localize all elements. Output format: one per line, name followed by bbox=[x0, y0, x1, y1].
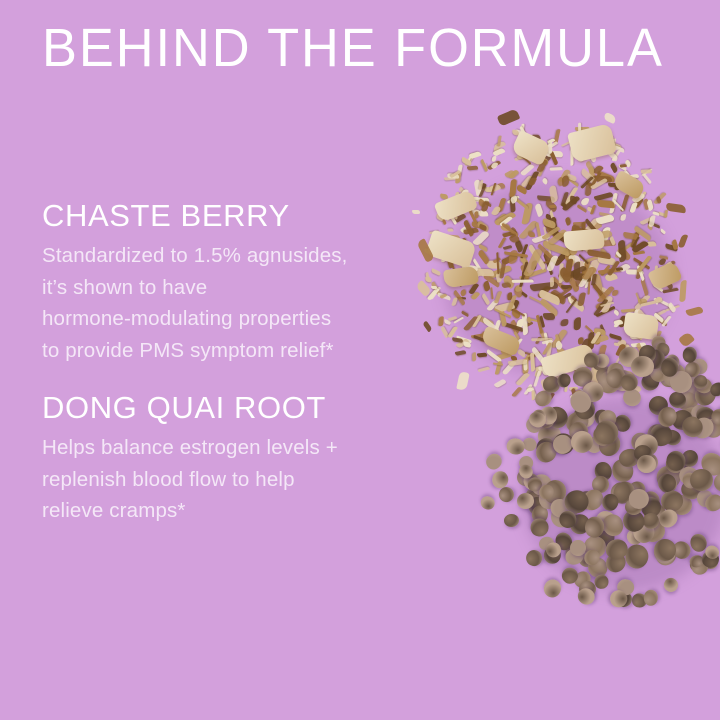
chaste-berry bbox=[557, 509, 578, 531]
root-chip bbox=[572, 273, 592, 282]
root-chip-stray bbox=[540, 379, 551, 399]
root-chip bbox=[546, 341, 553, 357]
root-chip bbox=[646, 199, 654, 210]
root-chip bbox=[593, 164, 604, 175]
root-chip bbox=[480, 200, 489, 212]
root-chip bbox=[444, 177, 458, 181]
root-chip bbox=[629, 201, 637, 213]
root-chip bbox=[490, 287, 494, 299]
root-chip bbox=[589, 376, 595, 383]
root-chip bbox=[570, 147, 573, 165]
root-chip bbox=[544, 226, 559, 238]
root-chip bbox=[594, 192, 614, 202]
root-chip bbox=[594, 297, 609, 315]
root-chip bbox=[477, 353, 487, 358]
root-chip bbox=[589, 334, 608, 345]
root-chip bbox=[571, 224, 589, 243]
root-chip bbox=[513, 330, 520, 340]
root-chip bbox=[658, 315, 668, 324]
description-line: replenish blood flow to help bbox=[42, 464, 372, 496]
root-chip bbox=[507, 305, 526, 317]
root-chip bbox=[543, 198, 558, 213]
root-chip bbox=[618, 240, 626, 262]
root-chip bbox=[537, 195, 556, 201]
root-chip bbox=[641, 191, 648, 199]
chaste-berry bbox=[527, 496, 545, 514]
chaste-berry bbox=[683, 377, 702, 398]
chaste-berry bbox=[582, 534, 608, 559]
root-chip bbox=[539, 391, 543, 404]
root-chip bbox=[648, 220, 661, 228]
root-chip-large bbox=[480, 326, 522, 357]
root-chip bbox=[496, 212, 508, 223]
chaste-berry bbox=[530, 407, 550, 427]
root-chip bbox=[640, 278, 649, 296]
chaste-berry bbox=[641, 346, 668, 373]
root-chip bbox=[543, 220, 555, 232]
root-chip bbox=[463, 342, 472, 349]
root-chip bbox=[577, 204, 588, 212]
root-chip bbox=[494, 379, 507, 389]
root-chip bbox=[535, 364, 547, 371]
root-chip bbox=[621, 169, 631, 179]
root-chip bbox=[620, 163, 627, 167]
chaste-berry bbox=[666, 389, 689, 412]
chaste-berry bbox=[688, 532, 709, 554]
root-chip bbox=[660, 229, 667, 235]
ingredient-heading: CHASTE BERRY bbox=[42, 198, 372, 234]
root-chip bbox=[424, 277, 431, 283]
root-chip bbox=[561, 284, 572, 288]
root-chip bbox=[541, 154, 552, 165]
root-chip bbox=[425, 272, 430, 279]
root-chip bbox=[427, 287, 440, 301]
root-chip bbox=[573, 317, 580, 330]
root-chip bbox=[457, 240, 466, 247]
chaste-berry bbox=[650, 335, 667, 353]
root-chip bbox=[543, 254, 553, 276]
root-chip bbox=[494, 308, 512, 318]
root-chip bbox=[489, 184, 501, 193]
root-chip bbox=[543, 357, 563, 368]
root-chip bbox=[517, 137, 525, 148]
root-chip bbox=[594, 329, 606, 336]
chaste-berry bbox=[553, 530, 575, 553]
root-chip bbox=[573, 366, 582, 372]
chaste-berry bbox=[682, 359, 703, 380]
root-chip bbox=[612, 149, 621, 161]
root-chip bbox=[543, 227, 552, 256]
root-chip bbox=[530, 353, 535, 372]
root-chip bbox=[620, 214, 626, 222]
root-chip bbox=[471, 221, 484, 229]
root-chip bbox=[559, 263, 564, 284]
chaste-berry bbox=[594, 420, 619, 446]
root-chip bbox=[440, 326, 450, 338]
root-chip bbox=[530, 386, 537, 398]
chaste-berry bbox=[595, 575, 609, 589]
root-chip-stray bbox=[603, 112, 617, 124]
root-chip bbox=[460, 241, 470, 249]
chaste-berry bbox=[571, 568, 593, 590]
root-chip bbox=[517, 155, 525, 160]
root-chip-large bbox=[612, 170, 647, 201]
root-chip bbox=[544, 213, 557, 223]
root-chip bbox=[599, 324, 606, 333]
root-chip bbox=[532, 233, 551, 244]
chaste-berry bbox=[707, 380, 720, 399]
root-chip bbox=[574, 138, 582, 145]
root-chip bbox=[632, 320, 638, 327]
root-chip bbox=[477, 244, 488, 252]
root-chip bbox=[549, 205, 556, 209]
root-chip bbox=[616, 342, 627, 356]
chaste-berry bbox=[663, 451, 687, 475]
root-chip bbox=[541, 368, 549, 375]
chaste-berry bbox=[602, 364, 629, 391]
root-chip bbox=[460, 225, 470, 235]
root-chip bbox=[467, 206, 478, 225]
root-chip-stray bbox=[456, 371, 470, 391]
root-chip bbox=[509, 320, 520, 335]
root-chip bbox=[553, 341, 563, 351]
chaste-berry bbox=[530, 473, 553, 496]
chaste-berry bbox=[569, 514, 591, 535]
chaste-berry bbox=[530, 504, 549, 524]
root-chip bbox=[499, 215, 513, 227]
chaste-berry bbox=[665, 365, 688, 387]
root-chip bbox=[580, 167, 599, 185]
root-chip bbox=[491, 183, 497, 196]
chaste-berry bbox=[641, 511, 660, 530]
root-chip bbox=[632, 250, 644, 255]
root-chip bbox=[585, 325, 594, 333]
root-chip bbox=[478, 366, 490, 372]
root-chip bbox=[642, 317, 649, 321]
root-chip bbox=[450, 261, 457, 277]
chaste-berry bbox=[680, 407, 704, 431]
root-chip bbox=[586, 183, 593, 197]
root-chip bbox=[451, 337, 463, 343]
root-chip bbox=[631, 343, 646, 348]
chaste-berry bbox=[543, 375, 562, 393]
root-chip bbox=[468, 282, 479, 295]
root-chip bbox=[632, 178, 639, 185]
root-chip bbox=[509, 233, 520, 244]
chaste-berry bbox=[533, 438, 561, 466]
chaste-berry bbox=[536, 481, 556, 501]
root-chip bbox=[656, 330, 662, 337]
chaste-berry bbox=[559, 565, 581, 587]
chaste-berry bbox=[639, 495, 662, 518]
chaste-berry bbox=[596, 366, 617, 387]
root-chip bbox=[571, 141, 578, 152]
root-chip bbox=[481, 293, 490, 305]
chaste-berry bbox=[678, 413, 707, 442]
root-chip bbox=[455, 192, 461, 204]
chaste-berry bbox=[638, 344, 657, 364]
root-chip bbox=[539, 392, 546, 400]
root-chip bbox=[447, 174, 459, 179]
root-chip bbox=[570, 295, 577, 302]
root-chip bbox=[636, 342, 644, 355]
chaste-berry bbox=[694, 487, 716, 509]
root-chip bbox=[659, 258, 667, 266]
root-chip bbox=[614, 343, 630, 348]
root-chip bbox=[559, 169, 571, 184]
root-chip bbox=[590, 220, 603, 231]
root-chip-stray bbox=[666, 203, 687, 214]
root-chip bbox=[493, 148, 506, 157]
root-chip bbox=[493, 362, 503, 366]
chaste-berry bbox=[562, 487, 591, 515]
root-chip bbox=[626, 270, 644, 275]
root-chip bbox=[654, 192, 667, 205]
chaste-berry bbox=[623, 478, 649, 504]
root-chip bbox=[624, 160, 632, 168]
chaste-berry bbox=[539, 405, 558, 425]
root-chip bbox=[430, 286, 441, 300]
chaste-berry bbox=[656, 505, 682, 530]
root-chip bbox=[510, 234, 516, 239]
root-chip bbox=[524, 383, 533, 395]
chaste-berry bbox=[614, 589, 634, 609]
root-chip bbox=[462, 219, 474, 236]
root-chip bbox=[455, 171, 461, 183]
chaste-berry bbox=[595, 429, 624, 459]
root-chip bbox=[657, 261, 672, 273]
root-chip bbox=[580, 227, 592, 239]
root-chip bbox=[613, 145, 625, 153]
root-chip bbox=[519, 268, 547, 281]
root-chip bbox=[641, 170, 652, 174]
root-chip bbox=[510, 307, 522, 318]
root-chip bbox=[487, 261, 502, 269]
root-chip bbox=[636, 262, 643, 280]
root-chip bbox=[658, 299, 673, 309]
root-chip bbox=[564, 259, 573, 279]
root-chip bbox=[511, 356, 518, 362]
chaste-berry bbox=[535, 421, 564, 451]
chaste-berry bbox=[649, 423, 673, 447]
description-line: to provide PMS symptom relief* bbox=[42, 335, 372, 367]
root-chip bbox=[636, 265, 644, 280]
chaste-berry bbox=[591, 407, 612, 428]
chaste-berry bbox=[655, 464, 683, 491]
chaste-berry bbox=[636, 451, 660, 474]
chaste-berry bbox=[541, 577, 564, 600]
chaste-berry bbox=[682, 346, 697, 363]
chaste-berry bbox=[570, 540, 586, 556]
root-chip bbox=[566, 296, 585, 313]
chaste-berry bbox=[617, 446, 642, 469]
root-chip-stray bbox=[679, 280, 687, 302]
chaste-berry bbox=[647, 360, 671, 384]
root-chip bbox=[590, 331, 601, 345]
root-chip-stray bbox=[497, 108, 521, 126]
root-chip bbox=[461, 157, 473, 167]
root-chip bbox=[569, 386, 579, 390]
root-chip bbox=[531, 260, 537, 271]
root-chip bbox=[613, 319, 620, 328]
root-chip bbox=[537, 285, 551, 300]
root-chip bbox=[599, 239, 616, 247]
description-line: hormone-modulating properties bbox=[42, 303, 372, 335]
root-chip bbox=[604, 146, 619, 161]
root-chip bbox=[585, 181, 593, 188]
root-chip bbox=[578, 371, 588, 375]
root-chip bbox=[542, 338, 553, 344]
root-chip bbox=[519, 265, 529, 281]
root-chip bbox=[507, 294, 517, 312]
root-chip bbox=[447, 325, 458, 338]
chaste-berry bbox=[678, 477, 704, 502]
root-chip bbox=[654, 265, 657, 279]
root-chip bbox=[480, 158, 488, 171]
root-chip bbox=[522, 358, 528, 374]
chaste-berry bbox=[652, 541, 680, 569]
ingredient-block-chaste-berry: CHASTE BERRY Standardized to 1.5% agnusi… bbox=[42, 198, 372, 366]
root-chip bbox=[577, 259, 586, 270]
root-chip bbox=[588, 331, 595, 350]
root-chip bbox=[616, 368, 631, 377]
root-chip bbox=[528, 317, 541, 322]
root-chip bbox=[621, 308, 636, 312]
chaste-berry bbox=[609, 368, 635, 394]
root-chip bbox=[523, 360, 528, 371]
root-chip bbox=[491, 331, 501, 339]
description-line: Helps balance estrogen levels + bbox=[42, 432, 372, 464]
root-chip bbox=[563, 186, 579, 208]
chaste-berry bbox=[550, 431, 575, 456]
root-chip bbox=[548, 139, 552, 154]
root-chip bbox=[657, 318, 667, 326]
chaste-berry bbox=[594, 353, 610, 370]
chaste-berry bbox=[636, 454, 656, 472]
root-chip bbox=[561, 274, 572, 284]
root-chip bbox=[641, 300, 657, 306]
chaste-berry bbox=[539, 477, 570, 508]
chaste-berry bbox=[643, 502, 667, 526]
root-chip bbox=[476, 221, 489, 233]
root-chip bbox=[472, 272, 482, 280]
chaste-berry bbox=[523, 547, 544, 568]
chaste-berry bbox=[630, 355, 655, 378]
root-chip-large bbox=[647, 261, 683, 292]
root-chip bbox=[511, 195, 529, 210]
root-chip bbox=[456, 335, 472, 343]
chaste-berry bbox=[606, 586, 630, 610]
root-chip bbox=[570, 227, 583, 238]
root-chip bbox=[600, 264, 611, 276]
root-chip bbox=[494, 211, 516, 226]
root-chip bbox=[578, 254, 589, 265]
root-chip bbox=[608, 236, 615, 246]
root-chip bbox=[590, 205, 596, 216]
root-chip bbox=[636, 255, 651, 273]
root-chip bbox=[454, 317, 465, 324]
root-chip bbox=[636, 293, 642, 304]
root-chip bbox=[587, 268, 591, 295]
root-chip bbox=[543, 250, 553, 263]
chaste-berry bbox=[663, 353, 680, 371]
root-chip bbox=[472, 315, 481, 328]
root-chip bbox=[638, 298, 648, 304]
root-chip bbox=[560, 202, 568, 209]
root-chip bbox=[646, 242, 656, 247]
root-chip bbox=[496, 252, 500, 274]
root-chip bbox=[471, 290, 481, 300]
root-chip bbox=[555, 286, 572, 300]
chaste-berry bbox=[544, 483, 569, 508]
root-chip bbox=[622, 351, 634, 355]
root-chip bbox=[501, 230, 517, 238]
root-chip bbox=[537, 244, 557, 263]
chaste-berry bbox=[569, 429, 595, 455]
root-chip bbox=[483, 280, 491, 291]
root-chip bbox=[607, 183, 623, 187]
root-chip bbox=[538, 297, 559, 317]
chaste-berry bbox=[594, 526, 616, 549]
root-chip bbox=[440, 193, 449, 199]
root-chip bbox=[653, 313, 664, 323]
root-chip bbox=[525, 353, 531, 360]
root-chip bbox=[562, 251, 577, 265]
chaste-berry bbox=[657, 356, 678, 377]
root-chip-stray bbox=[685, 306, 703, 317]
root-chip bbox=[597, 285, 615, 304]
root-chip bbox=[522, 313, 528, 335]
chaste-berry bbox=[660, 370, 677, 388]
root-chip-stray bbox=[412, 210, 420, 214]
root-chip bbox=[487, 159, 501, 170]
root-chip-large bbox=[563, 228, 605, 251]
chaste-berry bbox=[703, 543, 720, 562]
chaste-berry bbox=[618, 506, 649, 537]
root-chip bbox=[654, 280, 663, 288]
root-chip bbox=[556, 176, 566, 186]
chaste-berry bbox=[520, 436, 538, 454]
root-chip bbox=[456, 164, 462, 177]
root-chip bbox=[562, 195, 580, 212]
root-chip bbox=[619, 247, 632, 261]
root-chip bbox=[596, 170, 615, 182]
chaste-berry bbox=[692, 380, 720, 409]
root-chip bbox=[575, 126, 590, 130]
root-chip bbox=[450, 170, 461, 178]
chaste-berry bbox=[572, 396, 599, 423]
root-chip bbox=[508, 358, 527, 366]
chaste-berry bbox=[594, 508, 619, 533]
root-chip bbox=[525, 352, 535, 357]
root-chip bbox=[582, 134, 597, 140]
root-chip bbox=[579, 336, 591, 351]
chaste-berry bbox=[613, 413, 632, 433]
root-chip bbox=[440, 294, 447, 300]
root-chip bbox=[512, 387, 523, 399]
chaste-berry bbox=[689, 556, 709, 576]
root-chip bbox=[497, 198, 506, 213]
chaste-berry bbox=[620, 386, 643, 409]
chaste-berry bbox=[550, 431, 576, 457]
root-chip-stray bbox=[572, 388, 586, 402]
root-chip bbox=[490, 205, 500, 216]
root-chip bbox=[530, 338, 552, 341]
chaste-berry bbox=[693, 376, 713, 395]
chaste-berry bbox=[701, 415, 720, 442]
root-chip bbox=[595, 332, 601, 345]
root-chip bbox=[473, 335, 491, 344]
